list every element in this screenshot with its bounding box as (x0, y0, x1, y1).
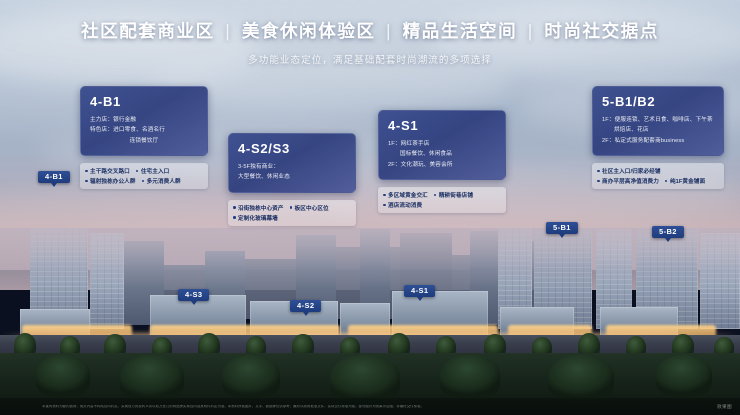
park-tree (656, 355, 712, 397)
callout-4s1-box: 4-S1 1F：网红茶手店 国标餐饮、休闲食品 2F：文化潮玩、美容会所 (378, 110, 506, 180)
title-separator: | (382, 21, 396, 41)
callout-4s2s3-bullets: 沿街独栋中心资产 板区中心区位 定制化玻璃幕墙 (228, 200, 356, 226)
bullet-dot-icon (142, 180, 145, 183)
bullet-item: 社区主入口/归家必经铺 (597, 167, 661, 175)
callout-4b1-title: 4-B1 (90, 95, 198, 108)
legal-disclaimer: 本宣传资料为要约邀请，相关内容不构成合同约定，买卖双方的权利义务以双方签订的商品… (0, 405, 717, 408)
callout-4s1[interactable]: 4-S1 1F：网红茶手店 国标餐饮、休闲食品 2F：文化潮玩、美容会所 多区域… (378, 110, 506, 213)
bullet-dot-icon (383, 204, 386, 207)
callout-line: 连锁餐饮厅 (90, 136, 198, 146)
callout-4s1-title: 4-S1 (388, 119, 496, 132)
callout-4s1-bullets: 多区域黄金交汇 精耕街巷店铺 酒店流动消费 (378, 187, 506, 213)
bullet-label: 精耕街巷店铺 (439, 191, 473, 199)
bullet-dot-icon (233, 216, 236, 219)
callout-line: 1F：便服连锁、艺术日食、咖啡店、下午茶 (602, 115, 714, 125)
callout-4s2s3[interactable]: 4-S2/S3 3-5F独有商业： 大型餐饮、休闲业态 沿街独栋中心资产 板区中… (228, 133, 356, 226)
park-tree (222, 355, 280, 399)
building-tag-4s2[interactable]: 4-S2 (290, 300, 321, 312)
callout-5b1b2-box: 5-B1/B2 1F：便服连锁、艺术日食、咖啡店、下午茶 烘焙店、花店 2F：私… (592, 86, 724, 156)
bullet-item: 板区中心区位 (290, 204, 329, 212)
bullet-label: 定制化玻璃幕墙 (238, 214, 278, 222)
bullet-item: 精耕街巷店铺 (434, 191, 473, 199)
title-part-1: 社区配套商业区 (81, 21, 215, 41)
bullet-label: 住宅主入口 (141, 167, 169, 175)
title-separator: | (524, 21, 538, 41)
callout-5b1b2-title: 5-B1/B2 (602, 95, 714, 108)
bullet-item: 沿街独栋中心资产 (233, 204, 284, 212)
bullet-label: 多元消费人群 (147, 177, 181, 185)
promo-render-canvas: 4-B1 4-S3 4-S2 4-S1 5-B1 5-B2 社区配套商业区 | … (0, 0, 740, 415)
bullet-label: 社区主入口/归家必经铺 (602, 167, 661, 175)
tower-right-4 (700, 233, 740, 329)
callout-line: 国标餐饮、休闲食品 (388, 149, 496, 159)
bullet-item: 定制化玻璃幕墙 (233, 214, 278, 222)
title-part-2: 美食休闲体验区 (242, 21, 376, 41)
callout-line: 大型餐饮、休闲业态 (238, 172, 346, 182)
callout-4s2s3-title: 4-S2/S3 (238, 142, 346, 155)
cityscape (0, 228, 740, 415)
tower-left-2 (90, 233, 124, 329)
title-part-3: 精品生活空间 (403, 21, 518, 41)
bullet-label: 辐射独栋办公人群 (90, 177, 136, 185)
bullet-dot-icon (597, 170, 600, 173)
bullet-label: 主干路交叉路口 (90, 167, 130, 175)
bullet-dot-icon (383, 194, 386, 197)
title-separator: | (221, 21, 235, 41)
bullet-dot-icon (434, 194, 437, 197)
callout-4b1-box: 4-B1 主力店：银行金融 特色店：进口零食、名酒名行 连锁餐饮厅 (80, 86, 208, 156)
callout-line: 2F：文化潮玩、美容会所 (388, 160, 496, 170)
bullet-dot-icon (665, 180, 668, 183)
bullet-label: 纯1F黄金铺面 (670, 177, 705, 185)
callout-4b1[interactable]: 4-B1 主力店：银行金融 特色店：进口零食、名酒名行 连锁餐饮厅 主干路交叉路… (80, 86, 208, 189)
bullet-label: 酒店流动消费 (388, 201, 422, 209)
callout-5b1b2[interactable]: 5-B1/B2 1F：便服连锁、艺术日食、咖啡店、下午茶 烘焙店、花店 2F：私… (592, 86, 724, 189)
render-watermark: 效果图 (717, 404, 740, 410)
callout-line: 3-5F独有商业： (238, 162, 346, 172)
callout-4s2s3-body: 3-5F独有商业： 大型餐饮、休闲业态 (238, 162, 346, 183)
bullet-label: 商办平层高净值消费力 (602, 177, 659, 185)
callout-4s1-body: 1F：网红茶手店 国标餐饮、休闲食品 2F：文化潮玩、美容会所 (388, 139, 496, 170)
header: 社区配套商业区 | 美食休闲体验区 | 精品生活空间 | 时尚社交据点 多功能业… (0, 0, 740, 66)
bullet-dot-icon (85, 180, 88, 183)
callout-5b1b2-body: 1F：便服连锁、艺术日食、咖啡店、下午茶 烘焙店、花店 2F：私定式服务配套商b… (602, 115, 714, 146)
page-title: 社区配套商业区 | 美食休闲体验区 | 精品生活空间 | 时尚社交据点 (0, 22, 740, 41)
bullet-item: 纯1F黄金铺面 (665, 177, 705, 185)
footer-bar: 本宣传资料为要约邀请，相关内容不构成合同约定，买卖双方的权利义务以双方签订的商品… (0, 398, 740, 415)
building-tag-5b1[interactable]: 5-B1 (546, 222, 578, 234)
callout-line: 2F：私定式服务配套商business (602, 136, 714, 146)
callout-line: 烘焙店、花店 (602, 125, 714, 135)
page-subtitle: 多功能业态定位，满足基础配套时尚潮流的多项选择 (0, 52, 740, 66)
bullet-dot-icon (290, 206, 293, 209)
bullet-label: 板区中心区位 (295, 204, 329, 212)
park-tree (548, 355, 614, 401)
bullet-label: 沿街独栋中心资产 (238, 204, 284, 212)
bullet-dot-icon (233, 206, 236, 209)
callout-4b1-bullets: 主干路交叉路口 住宅主入口 辐射独栋办公人群 多元消费人群 (80, 163, 208, 189)
bullet-item: 辐射独栋办公人群 (85, 177, 136, 185)
bullet-label: 多区域黄金交汇 (388, 191, 428, 199)
bullet-item: 主干路交叉路口 (85, 167, 130, 175)
bullet-item: 多元消费人群 (142, 177, 181, 185)
bullet-item: 商办平层高净值消费力 (597, 177, 659, 185)
callout-line: 特色店：进口零食、名酒名行 (90, 125, 198, 135)
bullet-dot-icon (136, 170, 139, 173)
building-tag-5b2[interactable]: 5-B2 (652, 226, 684, 238)
building-tag-4s3[interactable]: 4-S3 (178, 289, 209, 301)
title-part-4: 时尚社交据点 (544, 21, 659, 41)
bullet-dot-icon (85, 170, 88, 173)
park-tree (330, 355, 400, 403)
building-tag-4s1[interactable]: 4-S1 (404, 285, 435, 297)
park-tree (36, 355, 90, 397)
callout-4s2s3-box: 4-S2/S3 3-5F独有商业： 大型餐饮、休闲业态 (228, 133, 356, 193)
park-tree (440, 355, 500, 399)
bullet-item: 酒店流动消费 (383, 201, 422, 209)
bullet-item: 住宅主入口 (136, 167, 169, 175)
callout-line: 主力店：银行金融 (90, 115, 198, 125)
callout-4b1-body: 主力店：银行金融 特色店：进口零食、名酒名行 连锁餐饮厅 (90, 115, 198, 146)
callout-5b1b2-bullets: 社区主入口/归家必经铺 商办平层高净值消费力 纯1F黄金铺面 (592, 163, 724, 189)
bullet-item: 多区域黄金交汇 (383, 191, 428, 199)
callout-line: 1F：网红茶手店 (388, 139, 496, 149)
park-tree (120, 355, 184, 401)
building-tag-4b1[interactable]: 4-B1 (38, 171, 70, 183)
bullet-dot-icon (597, 180, 600, 183)
